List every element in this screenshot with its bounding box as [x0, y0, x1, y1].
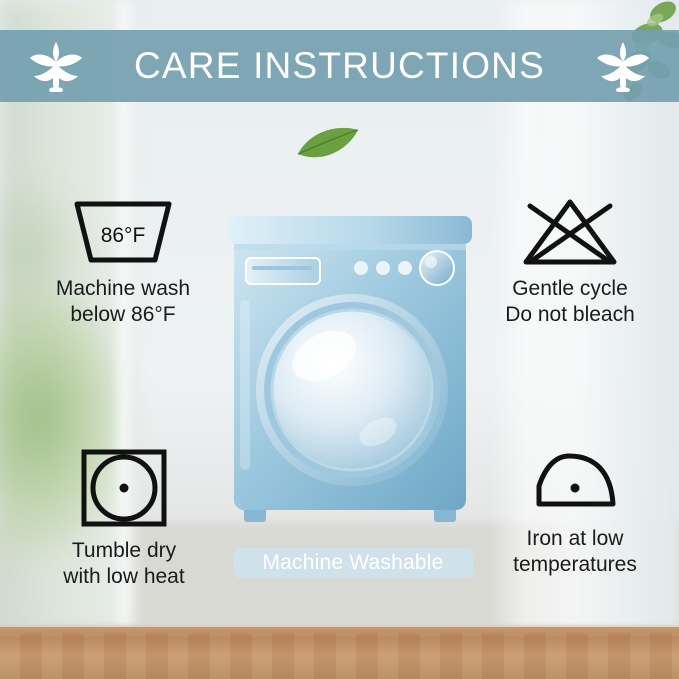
iron-icon [525, 446, 625, 518]
floating-leaf-icon [296, 124, 360, 164]
care-item-label: Machine wash below 86°F [18, 276, 228, 327]
header-banner: CARE INSTRUCTIONS [0, 30, 679, 102]
no-bleach-triangle-icon [518, 196, 622, 268]
machine-washable-badge: Machine Washable [233, 548, 473, 578]
care-item-no-bleach: Gentle cycle Do not bleach [470, 196, 670, 327]
care-item-label: Gentle cycle Do not bleach [470, 276, 670, 327]
washing-machine-illustration [228, 210, 478, 532]
page-title: CARE INSTRUCTIONS [134, 45, 545, 87]
care-item-iron: Iron at low temperatures [480, 446, 670, 577]
care-item-label: Tumble dry with low heat [24, 538, 224, 589]
care-item-tumble-dry: Tumble dry with low heat [24, 446, 224, 589]
fleur-de-lis-icon-left [26, 40, 86, 92]
care-item-machine-wash: 86°F Machine wash below 86°F [18, 196, 228, 327]
wash-tub-icon: 86°F [71, 196, 175, 268]
counter-grain [0, 633, 679, 679]
fleur-de-lis-icon-right [593, 40, 653, 92]
care-instructions-graphic: CARE INSTRUCTIONS [0, 0, 679, 679]
care-item-label: Iron at low temperatures [480, 526, 670, 577]
wash-temperature-text: 86°F [101, 224, 146, 247]
badge-label: Machine Washable [262, 551, 443, 575]
tumble-dry-low-heat-icon [78, 446, 170, 530]
